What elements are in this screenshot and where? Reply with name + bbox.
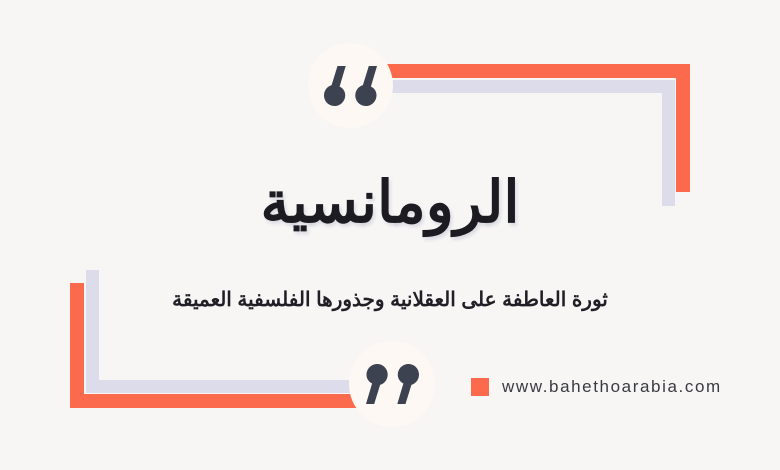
quote-open-badge [308,43,393,128]
poster-subtitle: ثورة العاطفة على العقلانية وجذورها الفلس… [0,287,780,314]
site-footer: www.bahethoarabia.com [471,377,722,397]
poster-canvas: الرومانسية ثورة العاطفة على العقلانية وج… [0,0,780,470]
frame-top-right-accent-horizontal [355,64,690,78]
quote-close-badge [349,341,435,427]
frame-bottom-left-secondary-horizontal [86,380,361,393]
frame-bottom-left-accent-horizontal [70,394,360,408]
site-url: www.bahethoarabia.com [502,377,722,397]
square-swatch-icon [471,378,489,396]
poster-title: الرومانسية [0,170,780,237]
quote-open-icon [324,66,378,106]
quote-close-icon [365,364,419,404]
frame-top-right-secondary-horizontal [355,80,675,93]
